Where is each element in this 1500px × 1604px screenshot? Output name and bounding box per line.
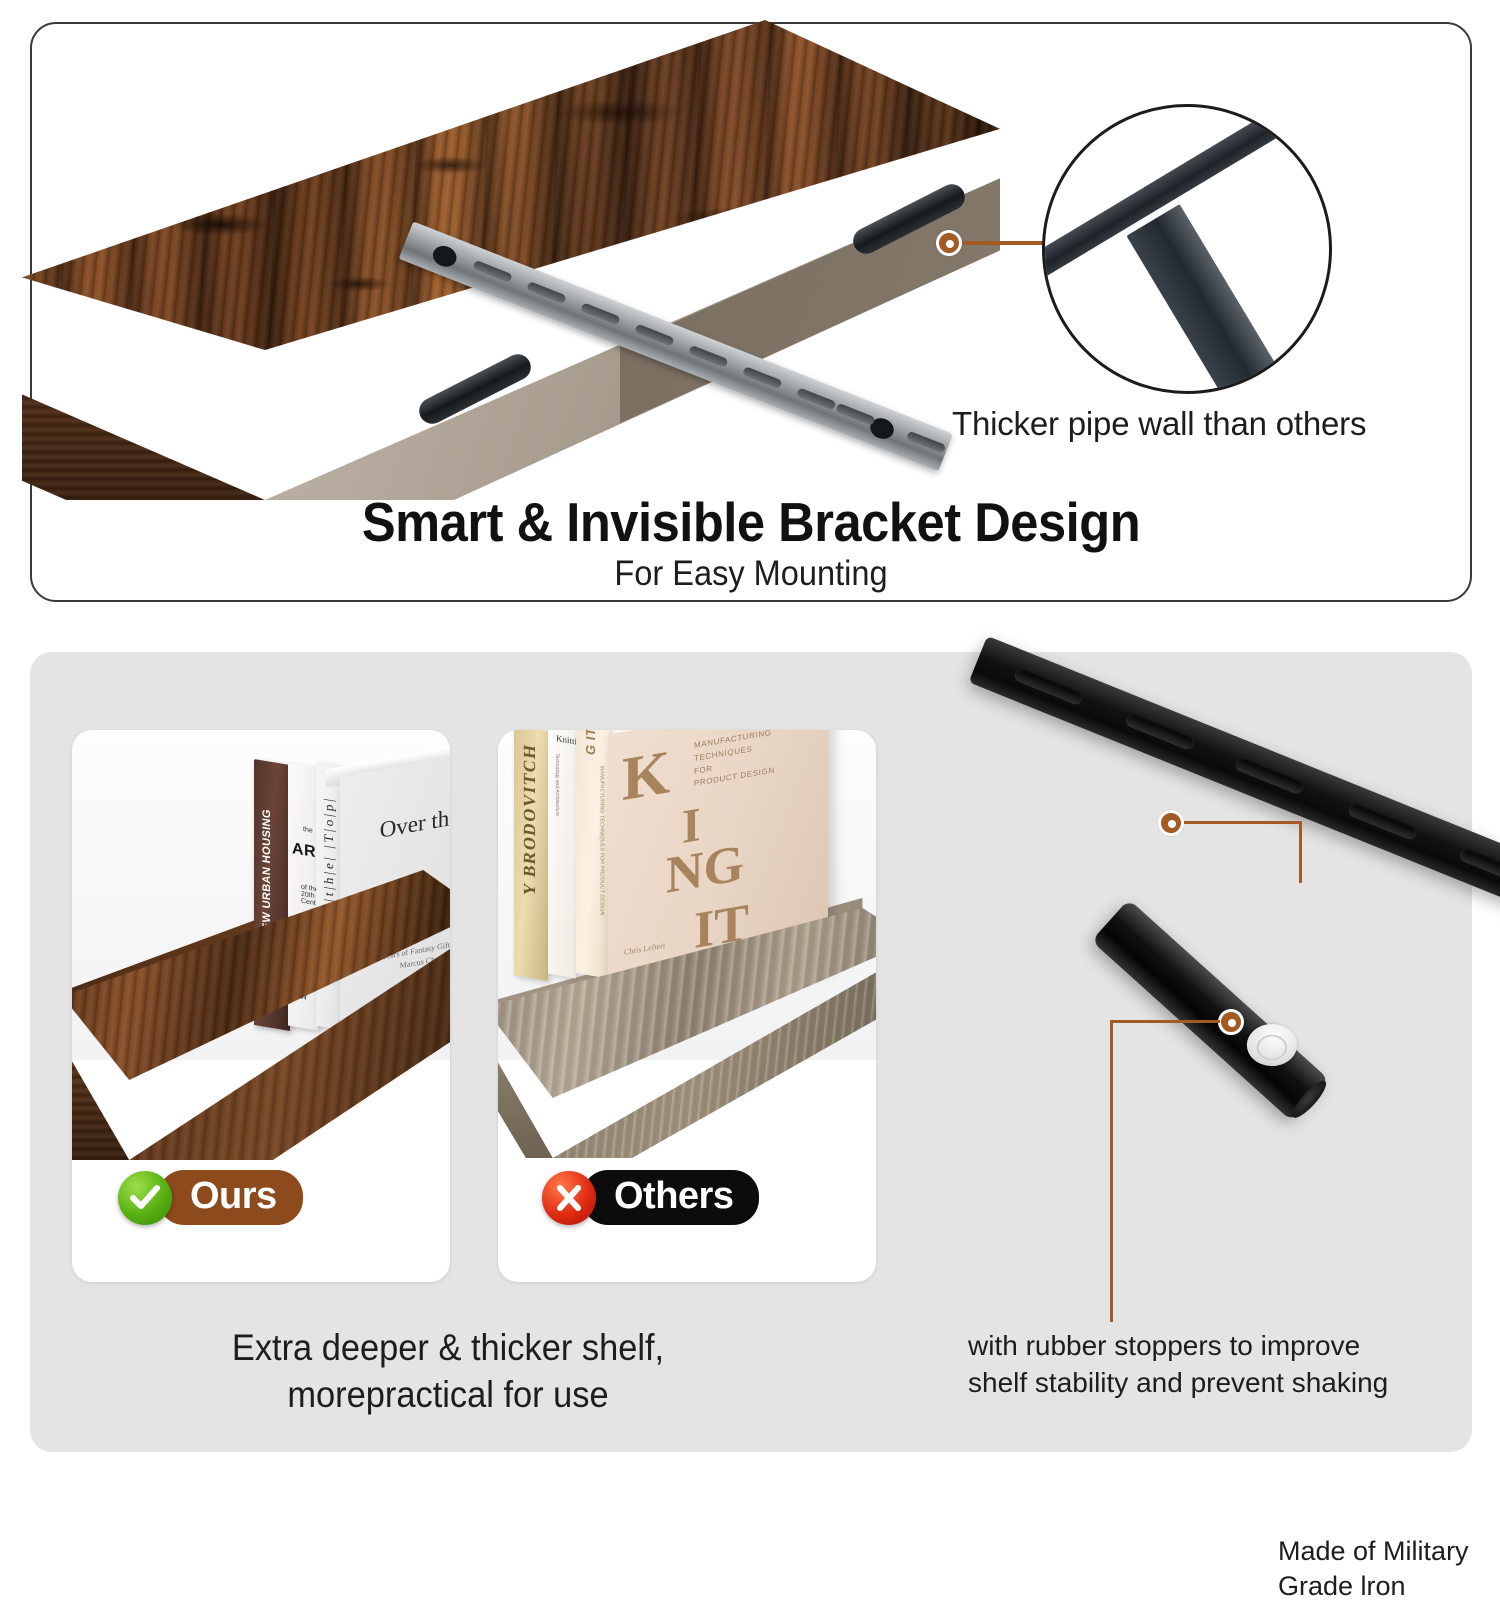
callout-note-material-line2: Grade lron bbox=[1278, 1569, 1500, 1604]
bracket-hole bbox=[430, 243, 460, 270]
bracket-slot bbox=[1458, 846, 1500, 886]
callout-dot-pipe-wall bbox=[936, 230, 962, 256]
bracket-slot bbox=[526, 281, 567, 304]
badge-ours: Ours bbox=[118, 1170, 303, 1225]
hero-panel: Thicker pipe wall than others Smart & In… bbox=[30, 22, 1472, 602]
callout-line bbox=[1299, 821, 1302, 883]
bracket-slot bbox=[634, 324, 675, 347]
callout-note-material: Made of Military Grade lron bbox=[1278, 1534, 1500, 1604]
page-subtitle: For Easy Mounting bbox=[82, 554, 1419, 594]
callout-note-material-line1: Made of Military bbox=[1278, 1534, 1500, 1569]
comparison-caption: Extra deeper & thicker shelf, morepracti… bbox=[95, 1324, 802, 1419]
callout-line bbox=[1184, 821, 1302, 824]
book-spine-knitting: Knitting Technology and Architecture bbox=[548, 730, 576, 978]
book-spine-label: Y BRODOVITCH bbox=[520, 742, 540, 897]
callout-note-rubber-line2: shelf stability and prevent shaking bbox=[968, 1365, 1488, 1402]
bracket-slot bbox=[688, 345, 729, 368]
badge-others: Others bbox=[542, 1170, 759, 1225]
callout-note-rubber: with rubber stoppers to improve shelf st… bbox=[968, 1328, 1488, 1402]
book-cover-letter-k: K bbox=[622, 746, 670, 807]
book-spine-brodovitch: Y BRODOVITCH bbox=[514, 730, 548, 981]
bracket-slot bbox=[906, 431, 947, 454]
callout-line bbox=[1110, 1020, 1220, 1023]
check-circle-icon bbox=[118, 1171, 172, 1225]
hero-callout-note: Thicker pipe wall than others bbox=[952, 405, 1472, 443]
comparison-caption-line2: morepractical for use bbox=[95, 1371, 802, 1418]
inset-pipe-bar bbox=[1126, 204, 1332, 394]
callout-note-rubber-line1: with rubber stoppers to improve bbox=[968, 1328, 1488, 1365]
x-circle-icon bbox=[542, 1171, 596, 1225]
badge-others-label: Others bbox=[582, 1170, 759, 1225]
bracket-slot bbox=[742, 366, 783, 389]
bracket-slot bbox=[580, 302, 621, 325]
bracket-slot bbox=[796, 387, 837, 410]
callout-dot-rubber bbox=[1218, 1009, 1244, 1035]
black-bracket-rail bbox=[969, 636, 1500, 930]
book-spine-label: G IT bbox=[583, 730, 598, 756]
callout-dot-material bbox=[1158, 810, 1184, 836]
comparison-card-ours: NEW URBAN HOUSING the ART of the 20th Ce… bbox=[72, 730, 450, 1282]
book-cover-author: Chris Lefteri bbox=[624, 941, 665, 957]
page-title: Smart & Invisible Bracket Design bbox=[90, 490, 1413, 554]
magnifier-inset bbox=[1042, 104, 1332, 394]
bracket-slot bbox=[835, 403, 876, 426]
callout-line bbox=[1110, 1020, 1113, 1322]
comparison-card-others: Y BRODOVITCH Knitting Technology and Arc… bbox=[498, 730, 876, 1282]
bracket-slot bbox=[1013, 667, 1085, 707]
book-cover-subtitle: MANUFACTURING TECHNIQUES FOR PRODUCT DES… bbox=[694, 730, 775, 791]
book-spine-sub: MANUFACTURING TECHNIQUES FOR PRODUCT DES… bbox=[597, 765, 605, 916]
book-cover-title: Over the Top bbox=[360, 793, 450, 847]
comparison-caption-line1: Extra deeper & thicker shelf, bbox=[95, 1324, 802, 1371]
book-spine-label: NEW URBAN HOUSING bbox=[261, 808, 274, 940]
book-spine-sub: Technology and Architecture bbox=[554, 753, 560, 817]
bracket-slot bbox=[472, 260, 513, 283]
book-spine-making-it: G IT MANUFACTURING TECHNIQUES FOR PRODUC… bbox=[576, 730, 610, 979]
bracket-slot bbox=[1124, 712, 1196, 752]
bracket-slot bbox=[1347, 801, 1419, 841]
black-bracket-pipe bbox=[1091, 899, 1329, 1121]
bracket-slot bbox=[1234, 756, 1306, 796]
badge-ours-label: Ours bbox=[158, 1170, 303, 1225]
book-spine-sub-top: the bbox=[303, 826, 313, 835]
callout-line bbox=[962, 241, 1054, 245]
